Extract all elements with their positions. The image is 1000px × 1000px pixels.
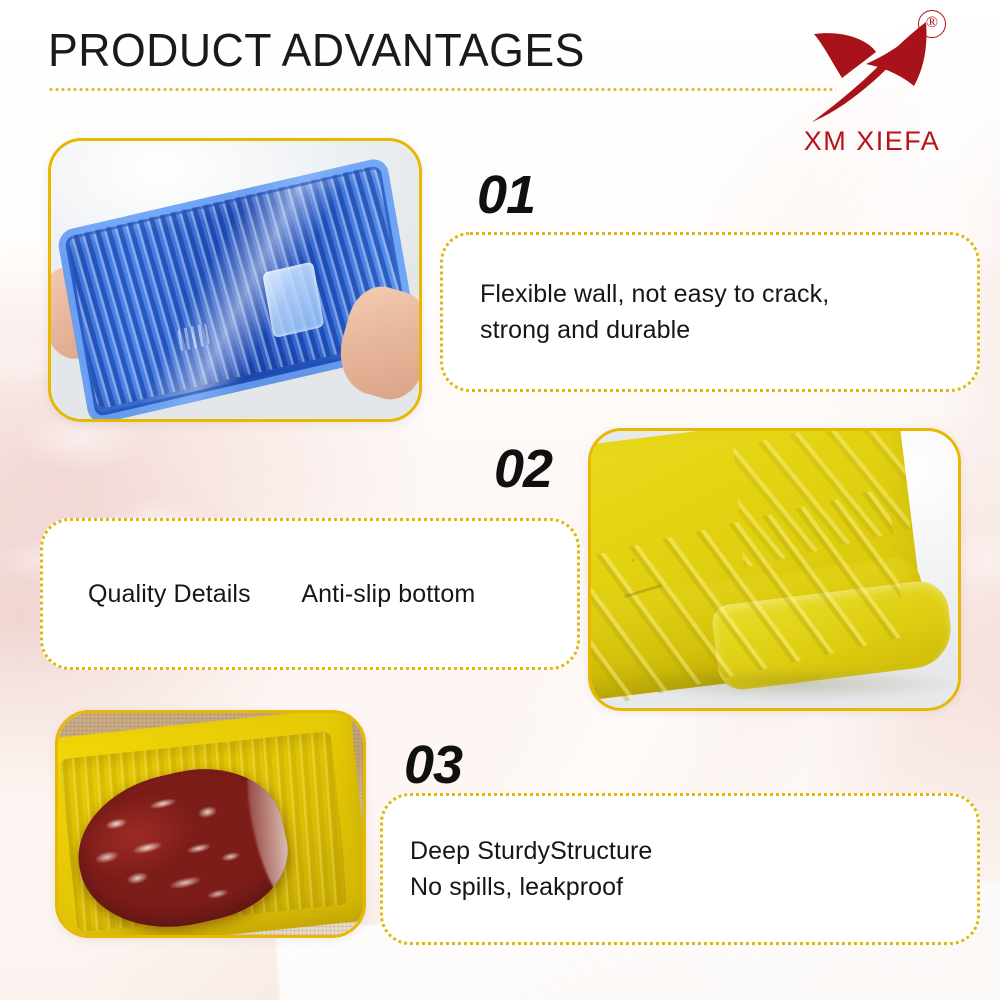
feature-image-yellow-tray (588, 428, 961, 711)
blue-tray-photo (51, 141, 419, 419)
feature-text-02: Quality Details Anti-slip bottom (40, 576, 509, 612)
feature-line: No spills, leakproof (410, 869, 652, 905)
feature-line: Anti-slip bottom (301, 580, 475, 608)
step-number-01: 01 (477, 168, 535, 222)
brand-logo: ® XM XIEFA (782, 16, 962, 157)
feature-text-01: Flexible wall, not easy to crack, strong… (440, 276, 863, 349)
feature-line: Quality Details (88, 580, 251, 608)
registered-trademark-icon: ® (918, 10, 946, 38)
feature-line: Flexible wall, not easy to crack, (480, 276, 829, 312)
title-divider (48, 88, 836, 91)
feature-box-01: Flexible wall, not easy to crack, strong… (440, 232, 980, 392)
feature-image-blue-tray (48, 138, 422, 422)
feature-text-03: Deep SturdyStructure No spills, leakproo… (380, 833, 686, 906)
feature-line: strong and durable (480, 312, 829, 348)
yellow-tray-photo (591, 431, 958, 708)
step-number-02: 02 (494, 442, 552, 496)
feature-image-steak-tray (55, 710, 366, 938)
feature-box-02: Quality Details Anti-slip bottom (40, 518, 580, 670)
feature-line: Deep SturdyStructure (410, 833, 652, 869)
product-advantages-poster: PRODUCT ADVANTAGES ® XM XIEFA (0, 0, 1000, 1000)
feature-box-03: Deep SturdyStructure No spills, leakproo… (380, 793, 980, 945)
step-number-03: 03 (404, 738, 462, 792)
brand-name: XM XIEFA (782, 126, 962, 157)
xiefa-arrow-logo-icon: ® (802, 16, 942, 124)
steak-tray-photo (58, 713, 363, 935)
